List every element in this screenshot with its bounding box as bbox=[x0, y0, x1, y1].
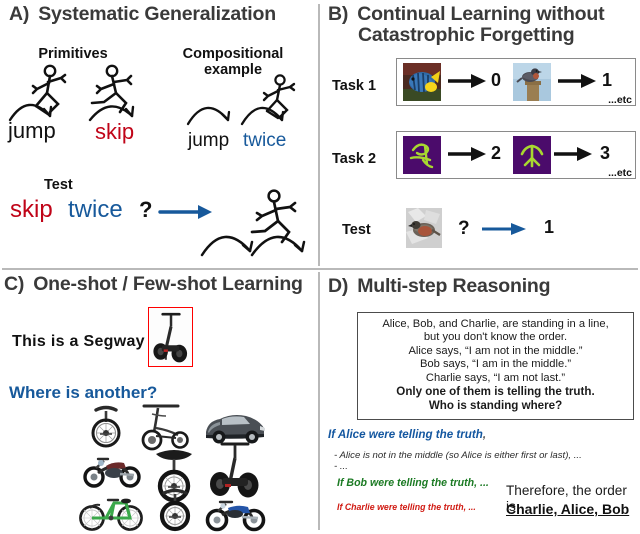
test-output-panel-b: 1 bbox=[544, 217, 554, 238]
black-arrow-right-icon bbox=[447, 145, 487, 163]
test-question-mark: ? bbox=[139, 199, 152, 221]
black-arrow-right-icon bbox=[553, 145, 593, 163]
task-2-etc: ...etc bbox=[608, 167, 632, 179]
segway-caption: This is a Segway bbox=[12, 333, 145, 351]
word-compositional-jump: jump bbox=[188, 130, 229, 152]
test-label-panel-b: Test bbox=[342, 222, 371, 238]
omniglot-character-1 bbox=[403, 136, 441, 174]
riddle-line: Charlie says, “I am not last.” bbox=[362, 372, 629, 385]
panel-b-title-line-1: Continual Learning without bbox=[357, 3, 604, 25]
riddle-line-emphasis: Only one of them is telling the truth. bbox=[362, 385, 629, 399]
panel-b-title-line-2: Catastrophic Forgetting bbox=[358, 25, 634, 46]
segway-photo bbox=[204, 438, 266, 500]
test-question-mark-panel-b: ? bbox=[458, 218, 470, 240]
panel-continual-learning: B)Continual Learning without Catastrophi… bbox=[320, 0, 640, 268]
word-jump: jump bbox=[8, 120, 56, 142]
segway-exemplar-frame bbox=[148, 307, 193, 367]
reasoning-branch-alice: If Alice were telling the truth, bbox=[328, 428, 486, 441]
panel-d-title: D)Multi-step Reasoning bbox=[328, 276, 550, 297]
task-2-row: 2 3 ...etc bbox=[396, 131, 636, 179]
reasoning-branch-bob: If Bob were telling the truth, ... bbox=[337, 477, 489, 489]
riddle-question: Who is standing where? bbox=[362, 399, 629, 413]
bird-on-post-photo bbox=[513, 63, 551, 101]
black-arrow-right-icon bbox=[447, 72, 487, 90]
task-1-label: Task 1 bbox=[332, 78, 376, 94]
kick-scooter-photo bbox=[136, 402, 196, 452]
unicycle-photo bbox=[150, 486, 200, 532]
panel-a-title-text: Systematic Generalization bbox=[38, 3, 276, 25]
panel-a-title: A)Systematic Generalization bbox=[9, 4, 276, 25]
word-test-skip: skip bbox=[10, 199, 53, 221]
compositional-jump-twice-icon bbox=[184, 74, 314, 134]
blue-motorcycle-photo bbox=[204, 494, 268, 532]
answer-skip-twice-icon bbox=[196, 185, 318, 263]
panel-c-letter: C) bbox=[4, 273, 24, 295]
riddle-line: Alice says, “I am not in the middle.” bbox=[362, 345, 629, 358]
stick-figure-skipping-icon bbox=[76, 62, 168, 124]
panel-multi-step-reasoning: D)Multi-step Reasoning Alice, Bob, and C… bbox=[320, 270, 640, 534]
reasoning-branch-alice-tail: , bbox=[483, 428, 486, 441]
riddle-text-box: Alice, Bob, and Charlie, are standing in… bbox=[357, 312, 634, 420]
panel-few-shot-learning: C)One-shot / Few-shot Learning This is a… bbox=[0, 270, 318, 534]
segway-photo bbox=[149, 308, 192, 366]
riddle-line: Alice, Bob, and Charlie, are standing in… bbox=[362, 318, 629, 331]
unicycle-photo bbox=[78, 402, 134, 448]
word-skip: skip bbox=[95, 121, 134, 143]
where-is-another-query: Where is another? bbox=[9, 383, 157, 403]
reasoning-bullet-2: - ... bbox=[334, 461, 348, 472]
task-1-output-1: 1 bbox=[602, 70, 612, 91]
panel-b-letter: B) bbox=[328, 3, 348, 25]
task-1-row: 0 1 ...etc bbox=[396, 58, 636, 106]
blue-arrow-right-icon bbox=[480, 220, 528, 238]
panel-d-title-text: Multi-step Reasoning bbox=[357, 275, 550, 297]
robin-in-snow-photo bbox=[406, 208, 442, 248]
reasoning-bullet-1: - Alice is not in the middle (so Alice i… bbox=[334, 450, 582, 461]
reasoning-branch-charlie: If Charlie were telling the truth, ... bbox=[337, 502, 476, 512]
test-label-panel-a: Test bbox=[44, 177, 104, 193]
reasoning-branch-alice-text: If Alice were telling the truth bbox=[328, 428, 483, 441]
green-bicycle-photo bbox=[78, 490, 144, 532]
task-1-etc: ...etc bbox=[608, 94, 632, 106]
panel-a-letter: A) bbox=[9, 3, 29, 25]
primitives-label: Primitives bbox=[14, 46, 132, 62]
panel-c-title: C)One-shot / Few-shot Learning bbox=[4, 274, 303, 295]
riddle-line: but you don't know the order. bbox=[362, 331, 629, 344]
panel-b-title: B)Continual Learning without Catastrophi… bbox=[328, 4, 634, 46]
angelfish-photo bbox=[403, 63, 441, 101]
word-test-twice: twice bbox=[68, 199, 123, 221]
task-2-output-2: 2 bbox=[491, 143, 501, 164]
vehicle-candidate-grid bbox=[78, 402, 268, 530]
word-compositional-twice: twice bbox=[243, 130, 286, 152]
panel-d-letter: D) bbox=[328, 275, 348, 297]
figure-root: A)Systematic Generalization Primitives C… bbox=[0, 0, 640, 534]
black-arrow-right-icon bbox=[557, 72, 597, 90]
panel-systematic-generalization: A)Systematic Generalization Primitives C… bbox=[0, 0, 318, 268]
task-2-output-3: 3 bbox=[600, 143, 610, 164]
task-2-label: Task 2 bbox=[332, 151, 376, 167]
conclusion-answer: Charlie, Alice, Bob bbox=[506, 501, 629, 517]
omniglot-character-2 bbox=[513, 136, 551, 174]
panel-c-title-text: One-shot / Few-shot Learning bbox=[33, 273, 303, 295]
task-1-output-0: 0 bbox=[491, 70, 501, 91]
cruiser-motorcycle-photo bbox=[82, 450, 144, 488]
riddle-line: Bob says, “I am in the middle.” bbox=[362, 358, 629, 371]
